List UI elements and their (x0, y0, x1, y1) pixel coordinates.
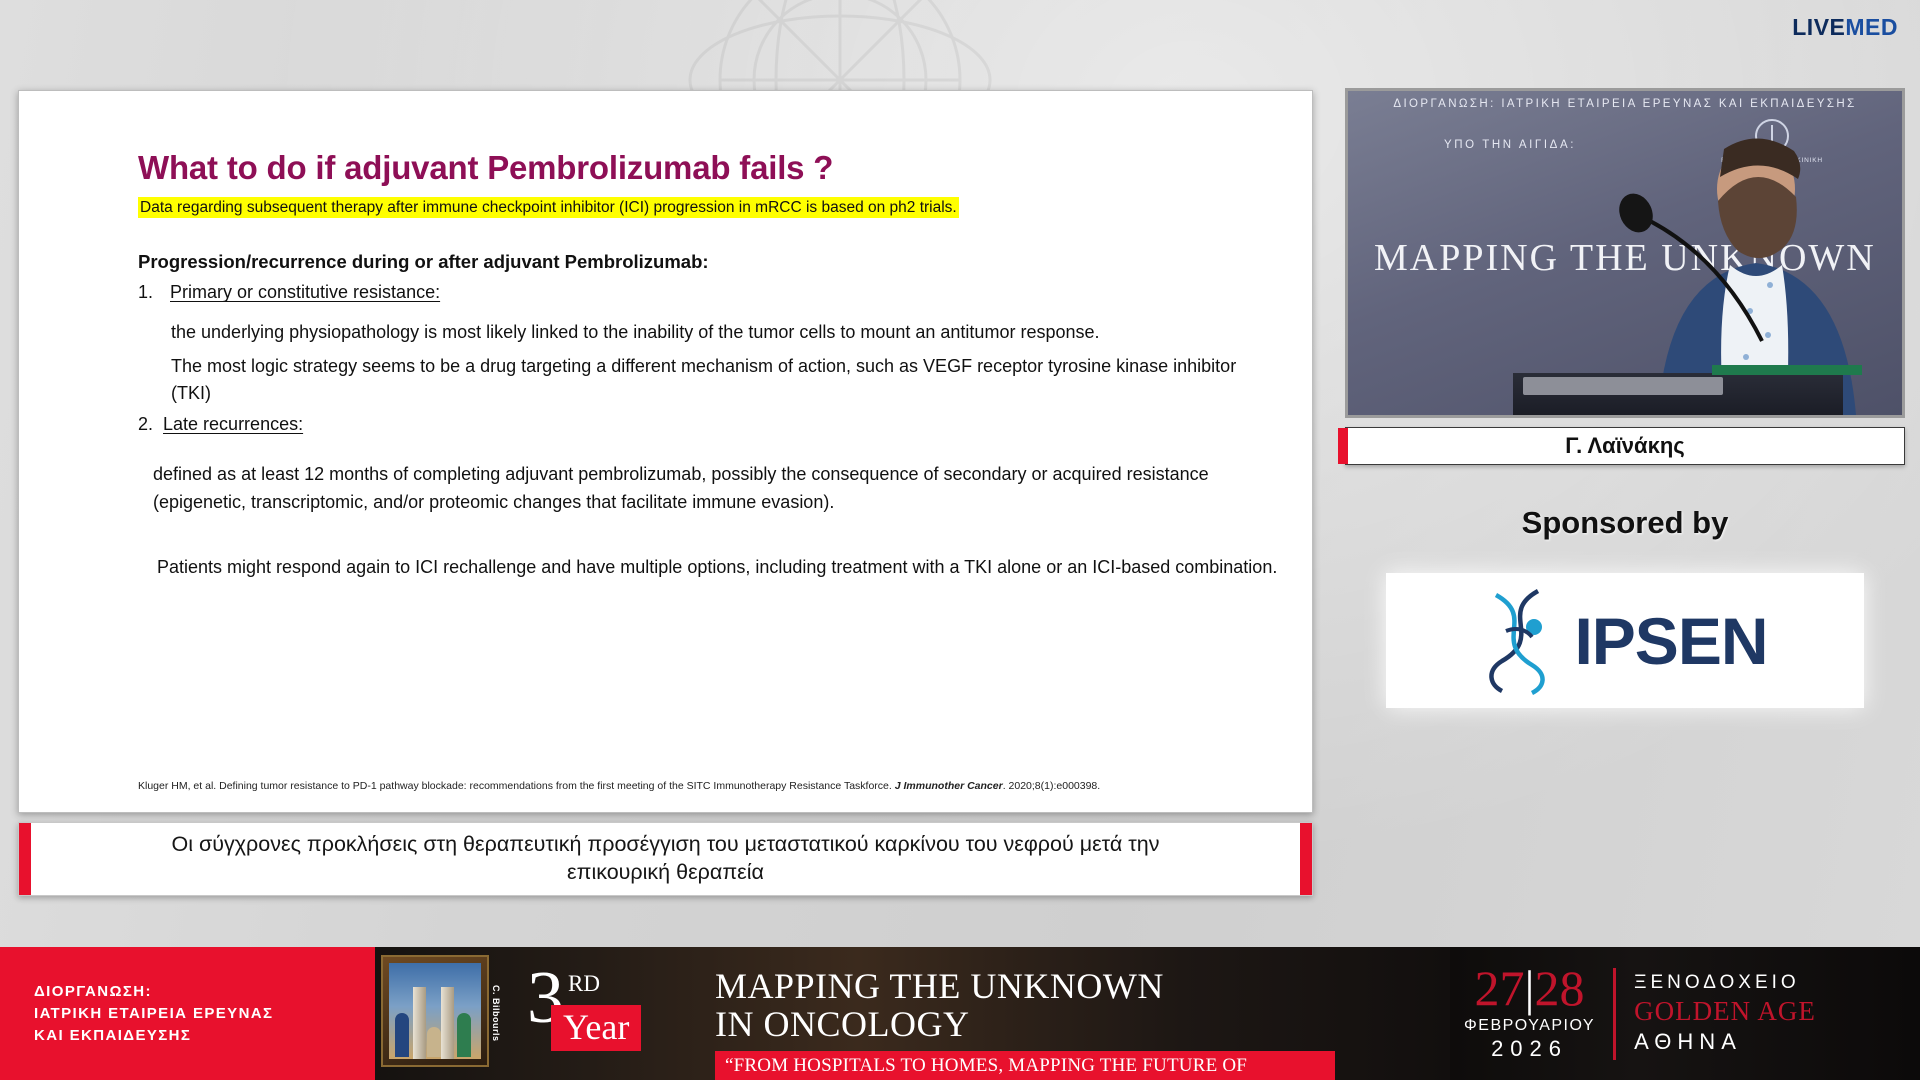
event-artwork-icon (381, 955, 489, 1067)
footer-venue-column: ΞΕΝΟΔΟΧΕΙΟ GOLDEN AGE ΑΘΗΝΑ (1634, 972, 1816, 1055)
session-title-text: Οι σύγχρονες προκλήσεις στη θεραπευτική … (101, 831, 1231, 886)
video-frame: ΔΙΟΡΓΑΝΩΣΗ: ΙΑΤΡΙΚΗ ΕΤΑΙΡΕΙΑ ΕΡΕΥΝΑΣ ΚΑΙ… (1348, 91, 1902, 415)
artwork-column-right (441, 987, 454, 1059)
slide-title: What to do if adjuvant Pembrolizumab fai… (138, 149, 1278, 187)
sponsor-logo-box: IPSEN (1386, 573, 1864, 708)
list-item-1: 1. Primary or constitutive resistance: (138, 282, 1278, 303)
list-item-2: 2. Late recurrences: (138, 414, 1278, 435)
footer-month: ΦΕΒΡΟΥΑΡΙΟΥ (1464, 1017, 1595, 1035)
footer-title-line-2: IN ONCOLOGY (715, 1005, 1335, 1045)
footer-organizer-block: ΔΙΟΡΓΑΝΩΣΗ: ΙΑΤΡΙΚΗ ΕΤΑΙΡΕΙΑ ΕΡΕΥΝΑΣ ΚΑΙ… (0, 947, 375, 1080)
slide-section-heading: Progression/recurrence during or after a… (138, 251, 1278, 273)
footer-date-day1: 27 (1475, 960, 1525, 1016)
footer-date-column: 27|28 ΦΕΒΡΟΥΑΡΙΟΥ 2026 (1464, 965, 1595, 1062)
stage-green-strip (1712, 365, 1862, 375)
paragraph-strategy: The most logic strategy seems to be a dr… (171, 353, 1278, 408)
livemed-logo: LIVEMED (1792, 14, 1898, 41)
artwork-figure-1 (395, 1013, 409, 1057)
footer-date-venue-block: 27|28 ΦΕΒΡΟΥΑΡΙΟΥ 2026 ΞΕΝΟΔΟΧΕΙΟ GOLDEN… (1450, 947, 1920, 1080)
ipsen-wordmark: IPSEN (1574, 603, 1767, 679)
slide-highlighted-note: Data regarding subsequent therapy after … (138, 197, 959, 218)
footer-tagline: “FROM HOSPITALS TO HOMES, MAPPING THE FU… (715, 1051, 1335, 1080)
sponsored-by-label: Sponsored by (1345, 505, 1905, 541)
footer-date-day2: 28 (1535, 960, 1585, 1016)
artwork-figure-3 (427, 1027, 441, 1057)
footer-venue-name: GOLDEN AGE (1634, 996, 1816, 1027)
list-item-1-number: 1. (138, 282, 160, 303)
slide-content: What to do if adjuvant Pembrolizumab fai… (19, 91, 1312, 812)
speaker-name-text: Γ. Λαϊνάκης (1565, 433, 1684, 459)
artwork-column-left (413, 987, 426, 1059)
paragraph-primary-resistance: the underlying physiopathology is most l… (171, 319, 1278, 347)
session-title-bar: Οι σύγχρονες προκλήσεις στη θεραπευτική … (18, 822, 1313, 896)
footer-title-line-1: MAPPING THE UNKNOWN (715, 967, 1335, 1005)
presentation-slide[interactable]: What to do if adjuvant Pembrolizumab fai… (18, 90, 1313, 813)
stage-banner-organizer: ΔΙΟΡΓΑΝΩΣΗ: ΙΑΤΡΙΚΗ ΕΤΑΙΡΕΙΑ ΕΡΕΥΝΑΣ ΚΑΙ… (1348, 98, 1902, 110)
artwork-credit: C. Bilbourls (491, 985, 501, 1042)
footer-divider (1613, 968, 1616, 1060)
citation-journal: J Immunother Cancer (895, 780, 1003, 792)
artwork-figure-2 (457, 1013, 471, 1057)
ipsen-helix-icon (1482, 587, 1556, 695)
footer-event-title: MAPPING THE UNKNOWN IN ONCOLOGY “FROM HO… (715, 967, 1335, 1080)
footer-year: 2026 (1464, 1036, 1595, 1062)
list-item-2-number: 2. (138, 414, 153, 435)
paragraph-late-recurrence: defined as at least 12 months of complet… (153, 461, 1278, 516)
slide-citation: Kluger HM, et al. Defining tumor resista… (138, 780, 1282, 794)
paragraph-ici-rechallenge: Patients might respond again to ICI rech… (157, 554, 1278, 582)
footer-venue-city: ΑΘΗΝΑ (1634, 1029, 1816, 1055)
livemed-med-text: MED (1845, 14, 1898, 40)
footer-organizer-line-1: ΔΙΟΡΓΑΝΩΣΗ: (34, 983, 375, 1000)
footer-title-block: C. Bilbourls 3 RD Year MAPPING THE UNKNO… (375, 947, 1450, 1080)
footer-organizer-line-3: ΚΑΙ ΕΚΠΑΙΔΕΥΣΗΣ (34, 1027, 375, 1044)
list-item-2-label: Late recurrences: (163, 414, 303, 435)
event-footer-banner: ΔΙΟΡΓΑΝΩΣΗ: ΙΑΤΡΙΚΗ ΕΤΑΙΡΕΙΑ ΕΡΕΥΝΑΣ ΚΑΙ… (0, 947, 1920, 1080)
speaker-video-player[interactable]: ΔΙΟΡΓΑΝΩΣΗ: ΙΑΤΡΙΚΗ ΕΤΑΙΡΕΙΑ ΕΡΕΥΝΑΣ ΚΑΙ… (1345, 88, 1905, 418)
edition-year-word: Year (551, 1005, 641, 1051)
list-item-1-label: Primary or constitutive resistance: (170, 282, 440, 303)
ipsen-logo: IPSEN (1482, 587, 1767, 695)
footer-date-separator: | (1525, 960, 1535, 1016)
citation-main: Kluger HM, et al. Defining tumor resista… (138, 780, 895, 792)
citation-volume: . 2020;8(1):e000398. (1003, 780, 1101, 792)
speaker-name-bar: Γ. Λαϊνάκης (1345, 427, 1905, 465)
footer-organizer-line-2: ΙΑΤΡΙΚΗ ΕΤΑΙΡΕΙΑ ΕΡΕΥΝΑΣ (34, 1005, 375, 1022)
livemed-live-text: LIVE (1792, 14, 1845, 40)
microphone-icon (1612, 191, 1772, 361)
podium (1513, 373, 1843, 415)
footer-dates: 27|28 (1464, 965, 1595, 1013)
footer-venue-kind: ΞΕΝΟΔΟΧΕΙΟ (1634, 972, 1816, 994)
edition-ordinal: RD (568, 971, 600, 997)
